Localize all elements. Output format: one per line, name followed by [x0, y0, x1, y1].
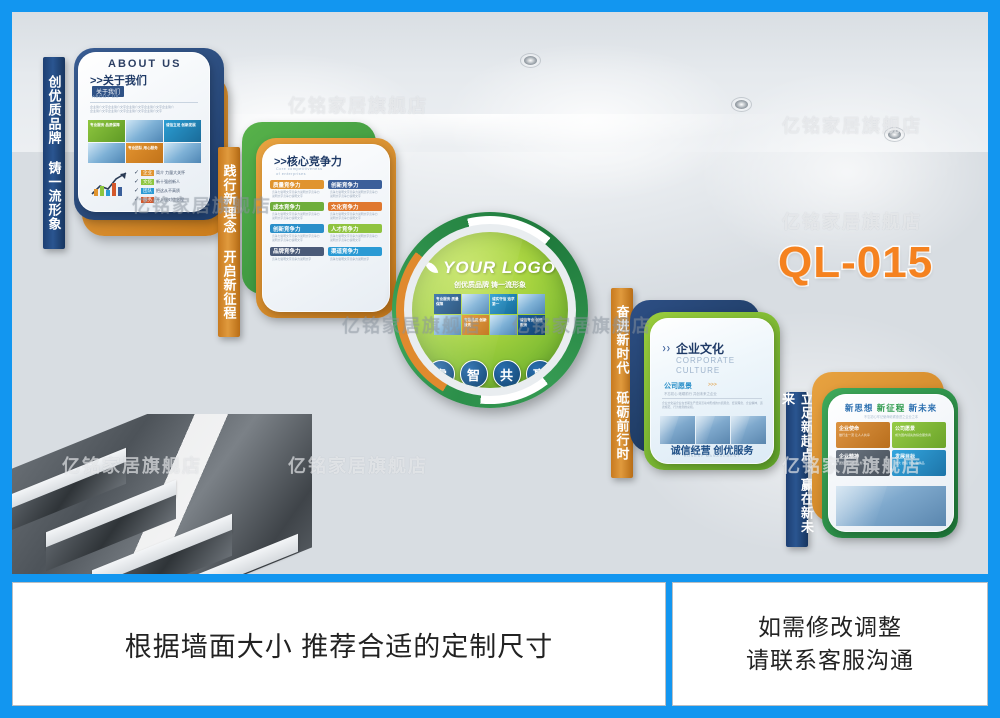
about-title-en: ABOUT US — [108, 58, 181, 70]
about-tile — [164, 143, 201, 163]
core-item: 品牌竞争力 竞争力说明文字竞争力说明文字 — [270, 247, 324, 262]
check-icon: ✓ — [134, 196, 139, 203]
core-item-label: 渠道竞争力 — [328, 247, 382, 256]
list-item: ✓ 企业 简介 力量大关怀 — [134, 169, 202, 176]
ceiling-spotlight-icon — [735, 100, 748, 109]
caption-right-line1: 如需修改调整 — [746, 611, 914, 644]
core-items-grid: 质量竞争力 竞争力说明文字竞争力说明文字竞争力说明文字竞争力说明文字 创新竞争力… — [270, 180, 382, 261]
about-tile-grid: 专业服务 品质保障 诚信立足 创新发展 专业团队 用心服务 — [88, 120, 202, 163]
caption-right-line2: 请联系客服沟通 — [746, 644, 914, 677]
culture-title-en-2: CULTURE — [676, 366, 720, 375]
bullet-tag: 团队 — [141, 188, 154, 194]
panel-about-us: ABOUT US >>关于我们 关于我们 ABOUT US 企业简介文字企业简介… — [70, 38, 230, 238]
culture-photo-strip — [660, 416, 766, 444]
core-item-label: 品牌竞争力 — [270, 247, 324, 256]
panel-core-competitiveness: >>核心竞争力 Core competitivenessof enterpris… — [240, 118, 400, 328]
circle-tile — [518, 294, 545, 314]
logo-text: YOUR LOGO — [443, 258, 556, 278]
leaf-icon — [424, 260, 438, 276]
caption-bar: 根据墙面大小 推荐合适的定制尺寸 如需修改调整 请联系客服沟通 — [12, 582, 988, 706]
staircase — [12, 414, 312, 574]
future-card-text: 团结 专注 创新 务实 — [839, 461, 887, 465]
core-item: 渠道竞争力 竞争力说明文字竞争力说明文字 — [328, 247, 382, 262]
chevron-icon: ❯❯ — [662, 346, 670, 352]
caption-left: 根据墙面大小 推荐合适的定制尺寸 — [12, 582, 666, 706]
bullet-text: 开入居对信念程 — [156, 197, 184, 203]
core-item: 创新竞争力 竞争力说明文字竞争力说明文字竞争力说明文字竞争力说明文字 — [328, 180, 382, 198]
circle-tile — [490, 315, 517, 335]
future-card: 企业精神 团结 专注 创新 务实 — [836, 450, 890, 476]
caption-right: 如需修改调整 请联系客服沟通 — [672, 582, 988, 706]
check-icon: ✓ — [134, 178, 139, 185]
future-card-grid: 企业使命 做行业一流 让人人共享 公司愿景 成为国内领先的综合服务商 企业精神 … — [836, 422, 946, 476]
future-headline: 新思想 新征程 新未来 — [828, 402, 954, 414]
circle-slogan: 创优质品牌 铸一流形象 — [412, 280, 568, 290]
core-item-label: 人才竞争力 — [328, 224, 382, 233]
core-title-en: Core competitivenessof enterprises — [276, 167, 323, 177]
core-item-text: 竞争力说明文字竞争力说明文字竞争力说明文字竞争力说明文字 — [328, 189, 382, 198]
future-card-text: 做大 做强 做久 做精品 — [895, 461, 943, 465]
word-badge: 共 — [493, 360, 521, 388]
about-tile: 专业服务 品质保障 — [88, 120, 125, 142]
circle-tile: 诚信专业 创优服务 — [518, 315, 545, 335]
about-tile-label: 专业服务 品质保障 — [88, 120, 125, 131]
ceiling-spotlight-icon — [888, 130, 901, 139]
vertical-banner-1: 创优质品牌 铸一流形象 — [43, 57, 65, 249]
circle-tile: 诚实守信 追求第一 — [490, 294, 517, 314]
core-item-label: 质量竞争力 — [270, 180, 324, 189]
future-card-title: 公司愿景 — [895, 425, 943, 432]
word-badge: 睿 — [427, 360, 455, 388]
circle-tile — [462, 294, 489, 314]
wall-scene-photo: 创优质品牌 铸一流形象 ABOUT US >>关于我们 关于我们 ABOUT U… — [12, 12, 988, 574]
list-item: ✓ 服务 开入居对信念程 — [134, 196, 202, 203]
future-subline: 不忘初心牢记使命砥砺奋进之企业之本 — [828, 414, 954, 419]
about-tile: 专业团队 用心服务 — [126, 143, 163, 163]
circle-tile: 专致品质 创新致先 — [462, 315, 489, 335]
future-card: 公司愿景 成为国内领先的综合服务商 — [892, 422, 946, 448]
word-badge: 智 — [460, 360, 488, 388]
panel-new-future: 新思想 新征程 新未来 不忘初心牢记使命砥砺奋进之企业之本 企业使命 做行业一流… — [806, 372, 966, 552]
chevron-icon: >>> — [708, 382, 717, 388]
future-photo — [836, 486, 946, 526]
culture-section-sub: 不忘初心 砥砺前行 共创未来之企业 — [664, 391, 717, 396]
vertical-banner-1-text: 创优质品牌 铸一流形象 — [45, 75, 64, 231]
product-image-canvas: 创优质品牌 铸一流形象 ABOUT US >>关于我们 关于我们 ABOUT U… — [0, 0, 1000, 718]
panel-future-face: 新思想 新征程 新未来 不忘初心牢记使命砥砺奋进之企业之本 企业使命 做行业一流… — [828, 394, 954, 532]
photo-tile — [660, 416, 695, 444]
panel-logo-circle: YOUR LOGO 创优质品牌 铸一流形象 专业服务 质量保障 诚实守信 追求第… — [392, 212, 588, 408]
bullet-text: 把这从不高质 — [156, 188, 180, 194]
core-item: 文化竞争力 竞争力说明文字竞争力说明文字竞争力说明文字竞争力说明文字 — [328, 202, 382, 220]
core-item: 质量竞争力 竞争力说明文字竞争力说明文字竞争力说明文字竞争力说明文字 — [270, 180, 324, 198]
core-item-text: 竞争力说明文字竞争力说明文字竞争力说明文字竞争力说明文字 — [270, 233, 324, 242]
culture-footer-en: HONEST MANAGEMENT — [650, 454, 774, 458]
about-tile — [88, 143, 125, 163]
circle-tile: 专业服务 质量保障 — [434, 294, 461, 314]
core-item-text: 竞争力说明文字竞争力说明文字 — [328, 256, 382, 262]
core-item: 人才竞争力 竞争力说明文字竞争力说明文字竞争力说明文字竞争力说明文字 — [328, 224, 382, 242]
panel-culture-face: ❯❯ 企业文化 CORPORATE CULTURE 公司愿景 >>> 不忘初心 … — [650, 318, 774, 464]
bullet-tag: 文化 — [141, 179, 154, 185]
bullet-tag: 企业 — [141, 170, 154, 176]
culture-title-cn: 企业文化 — [676, 340, 724, 357]
core-item-text: 竞争力说明文字竞争力说明文字竞争力说明文字竞争力说明文字 — [270, 211, 324, 220]
core-item-text: 竞争力说明文字竞争力说明文字 — [270, 256, 324, 262]
core-item-text: 竞争力说明文字竞争力说明文字竞争力说明文字竞争力说明文字 — [328, 233, 382, 242]
panel-about-face: ABOUT US >>关于我们 关于我们 ABOUT US 企业简介文字企业简介… — [78, 52, 210, 212]
core-item-label: 创新竞争力 — [270, 224, 324, 233]
bar-chart-icon — [90, 170, 130, 198]
about-body-text: 企业简介文字企业简介文字企业简介文字企业简介文字企业简介企业简介文字企业简介文字… — [90, 105, 198, 117]
divider — [90, 102, 198, 103]
future-card: 发展目标 做大 做强 做久 做精品 — [892, 450, 946, 476]
core-item-text: 竞争力说明文字竞争力说明文字竞争力说明文字竞争力说明文字 — [328, 211, 382, 220]
panel-core-face: >>核心竞争力 Core competitivenessof enterpris… — [262, 144, 390, 312]
core-item-label: 创新竞争力 — [328, 180, 382, 189]
core-item-text: 竞争力说明文字竞争力说明文字竞争力说明文字竞争力说明文字 — [270, 189, 324, 198]
watermark: 亿铭家居旗舰店 — [782, 208, 922, 234]
future-card-title: 企业使命 — [839, 425, 887, 432]
future-card-text: 做行业一流 让人人共享 — [839, 433, 887, 437]
future-card-text: 成为国内领先的综合服务商 — [895, 433, 943, 437]
vertical-banner-3-text: 奋进新时代 砥砺前行时 — [613, 305, 632, 461]
future-card: 企业使命 做行业一流 让人人共享 — [836, 422, 890, 448]
check-icon: ✓ — [134, 187, 139, 194]
core-item: 创新竞争力 竞争力说明文字竞争力说明文字竞争力说明文字竞争力说明文字 — [270, 224, 324, 242]
future-card-title: 企业精神 — [839, 453, 887, 460]
bullet-text: 简介 力量大关怀 — [156, 170, 185, 176]
culture-body: 企业文化是企业在长期生产经营活动中形成的价值观念、经营理念、企业精神、道德规范、… — [662, 401, 764, 409]
core-item: 成本竞争力 竞争力说明文字竞争力说明文字竞争力说明文字竞争力说明文字 — [270, 202, 324, 220]
about-tile — [126, 120, 163, 142]
logo-row: YOUR LOGO — [412, 258, 568, 278]
circle-tile-grid: 专业服务 质量保障 诚实守信 追求第一 专致品质 创新致先 诚信专业 创优服务 — [434, 294, 546, 335]
vertical-banner-2-text: 践行新理念 开启新征程 — [220, 164, 239, 320]
circle-tile — [434, 315, 461, 335]
list-item: ✓ 文化 新十强创新人 — [134, 178, 202, 185]
about-tile-label: 专业团队 用心服务 — [126, 143, 163, 154]
check-icon: ✓ — [134, 169, 139, 176]
core-item-label: 文化竞争力 — [328, 202, 382, 211]
about-tile-label: 诚信立足 创新发展 — [164, 120, 201, 131]
word-badge: 赢 — [526, 360, 554, 388]
bullet-text: 新十强创新人 — [156, 179, 180, 185]
divider — [662, 398, 762, 399]
future-card-title: 发展目标 — [895, 453, 943, 460]
culture-title-en-1: CORPORATE — [676, 356, 735, 365]
panel-corporate-culture: ❯❯ 企业文化 CORPORATE CULTURE 公司愿景 >>> 不忘初心 … — [630, 300, 790, 480]
photo-tile — [731, 416, 766, 444]
photo-tile — [696, 416, 731, 444]
culture-section-label: 公司愿景 — [664, 381, 692, 391]
core-item-label: 成本竞争力 — [270, 202, 324, 211]
about-tile: 诚信立足 创新发展 — [164, 120, 201, 142]
circle-word-badges: 睿 智 共 赢 — [412, 360, 568, 388]
circle-disc: YOUR LOGO 创优质品牌 铸一流形象 专业服务 质量保障 诚实守信 追求第… — [412, 232, 568, 388]
vertical-banner-2: 践行新理念 开启新征程 — [218, 147, 240, 337]
about-bullet-list: ✓ 企业 简介 力量大关怀 ✓ 文化 新十强创新人 ✓ 团队 把这从不高质 — [134, 169, 202, 203]
about-sub-en: ABOUT US — [92, 94, 119, 99]
ceiling-spotlight-icon — [524, 56, 537, 65]
product-code: QL-015 — [778, 238, 933, 288]
vertical-banner-4: 立足新起点 赢在新未来 — [786, 392, 808, 547]
list-item: ✓ 团队 把这从不高质 — [134, 187, 202, 194]
bullet-tag: 服务 — [141, 197, 154, 203]
